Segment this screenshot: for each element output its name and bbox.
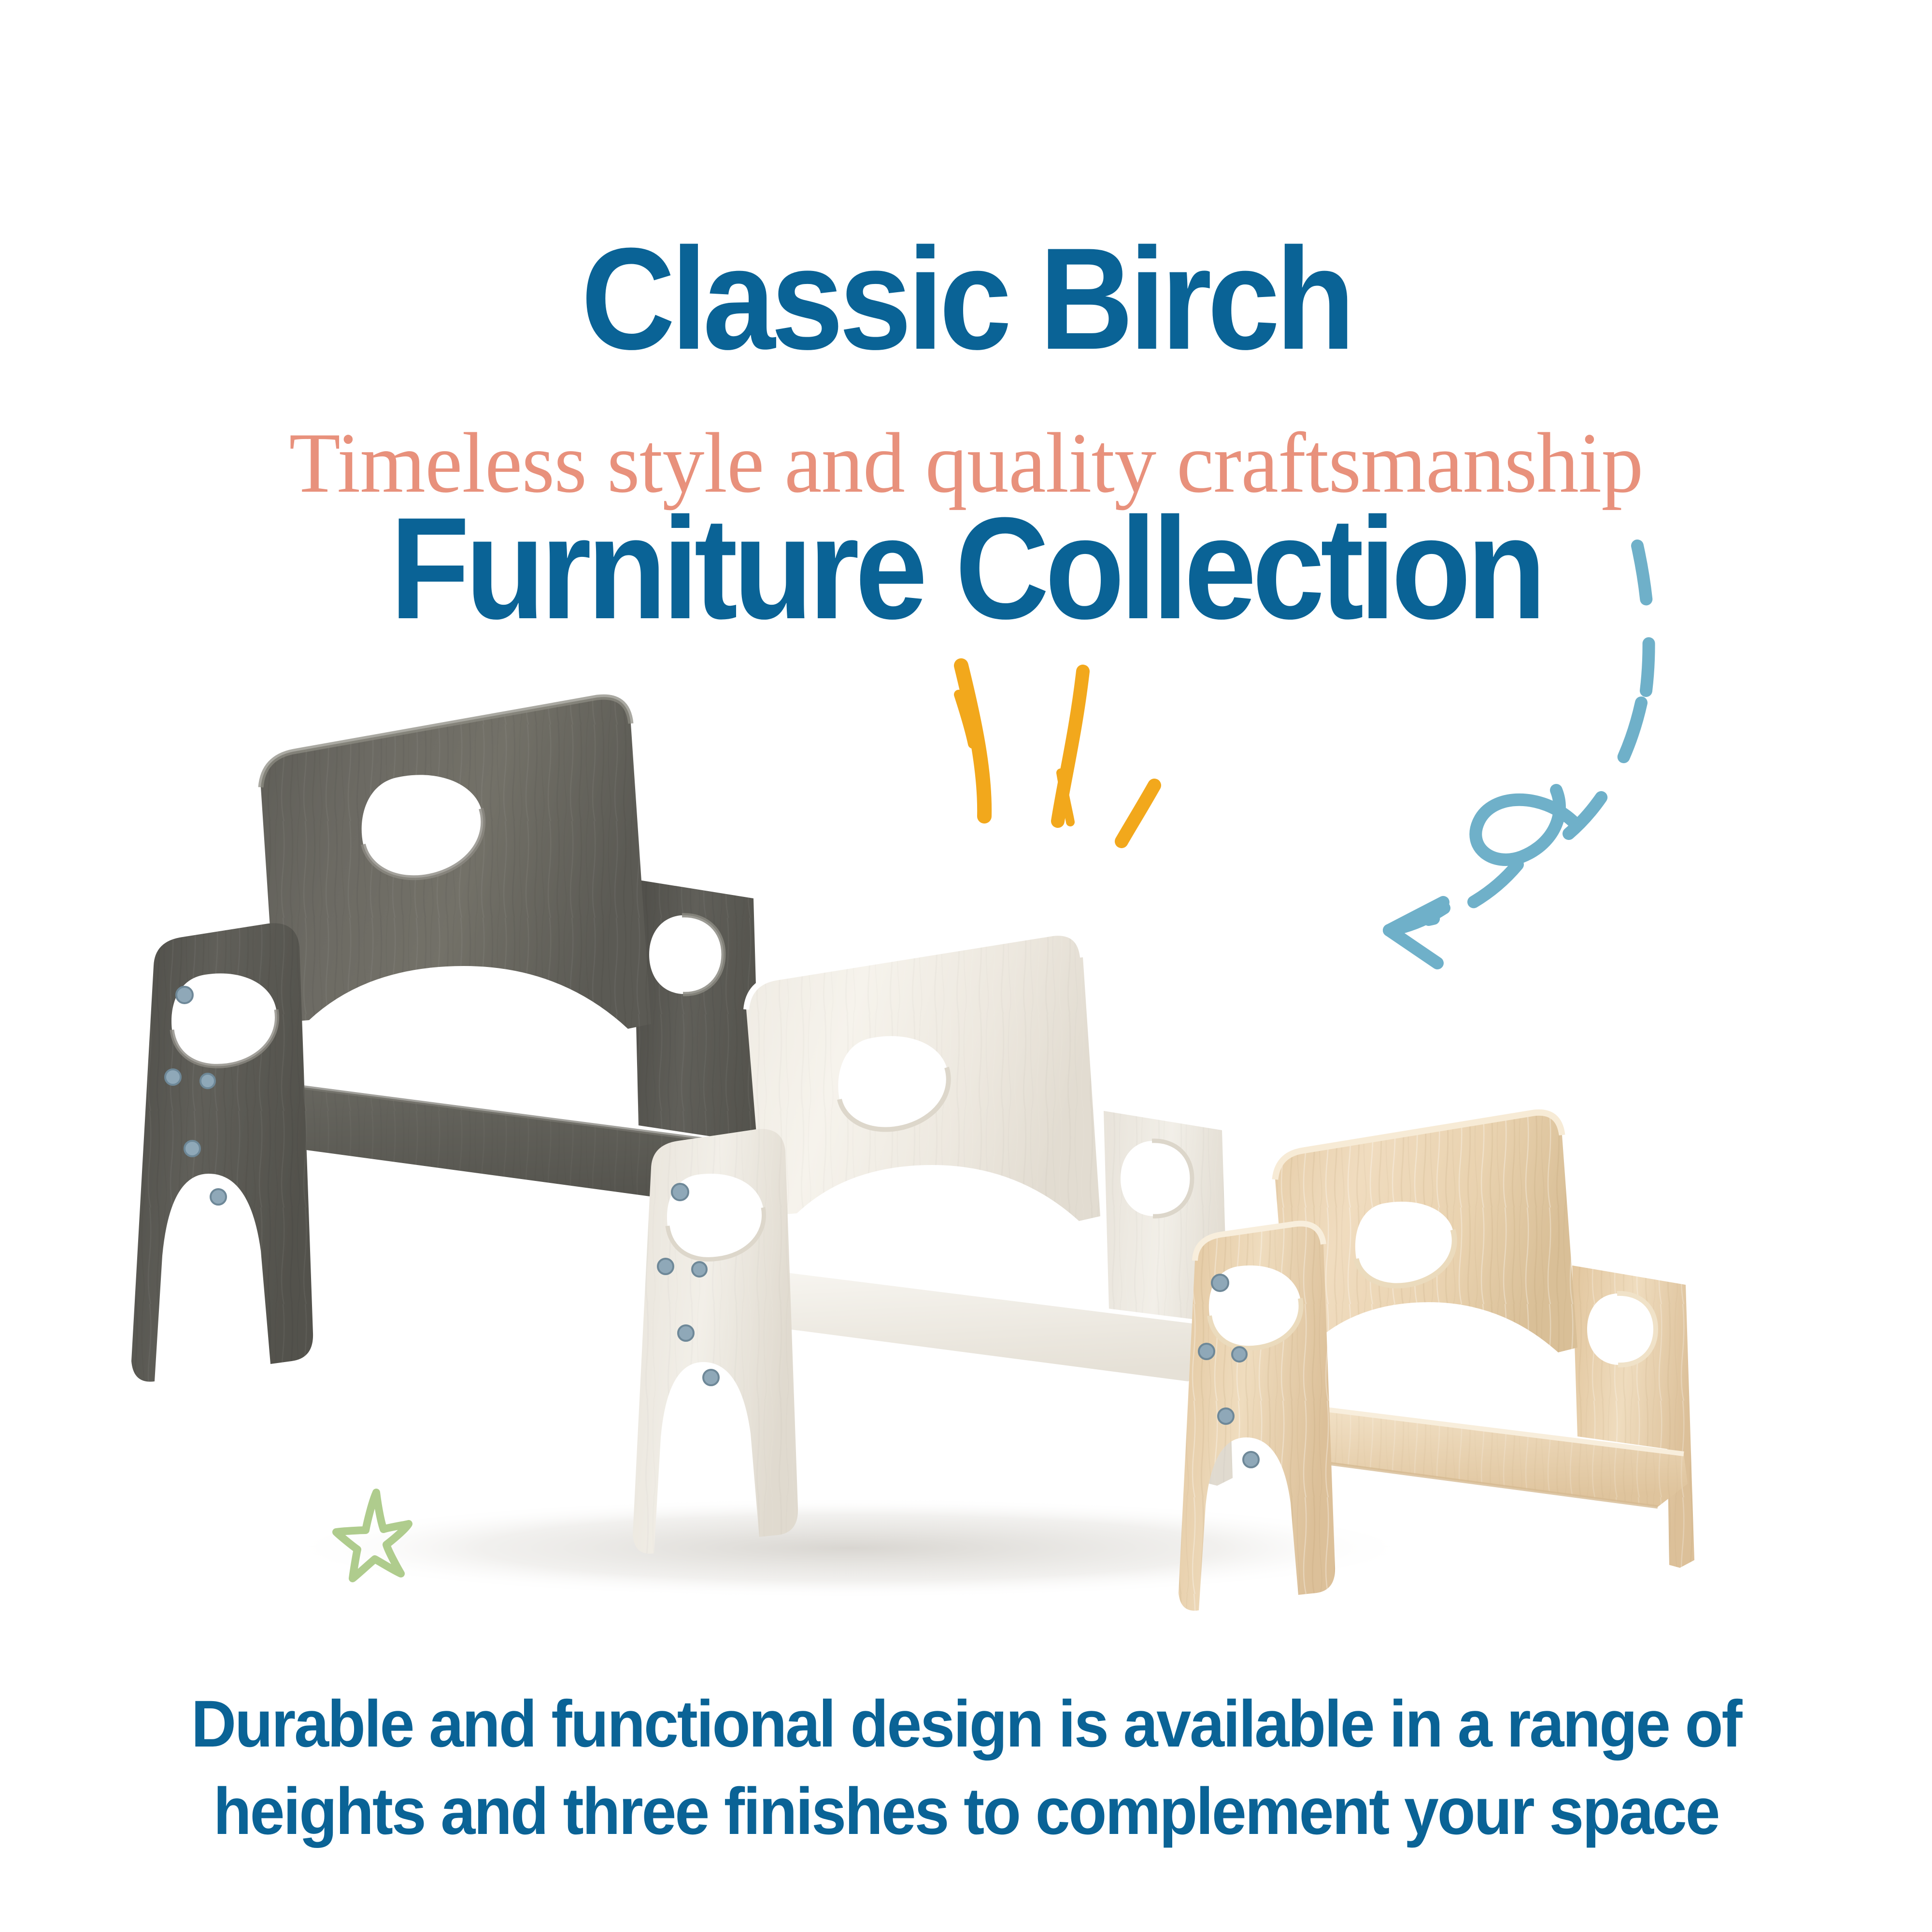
product-photo — [0, 628, 1932, 1618]
title-line-2: Furniture Collection — [97, 501, 1835, 636]
footer-copy: Durable and functional design is availab… — [53, 1681, 1879, 1856]
footer-line-1: Durable and functional design is availab… — [53, 1681, 1879, 1768]
page-subtitle: Timeless style and quality craftsmanship — [19, 413, 1913, 512]
title-line-1: Classic Birch — [97, 231, 1835, 366]
poster-canvas: Classic Birch Furniture Collection Timel… — [0, 0, 1932, 1932]
floor-shadow — [280, 1497, 1420, 1599]
footer-line-2: heights and three finishes to complement… — [53, 1768, 1879, 1856]
